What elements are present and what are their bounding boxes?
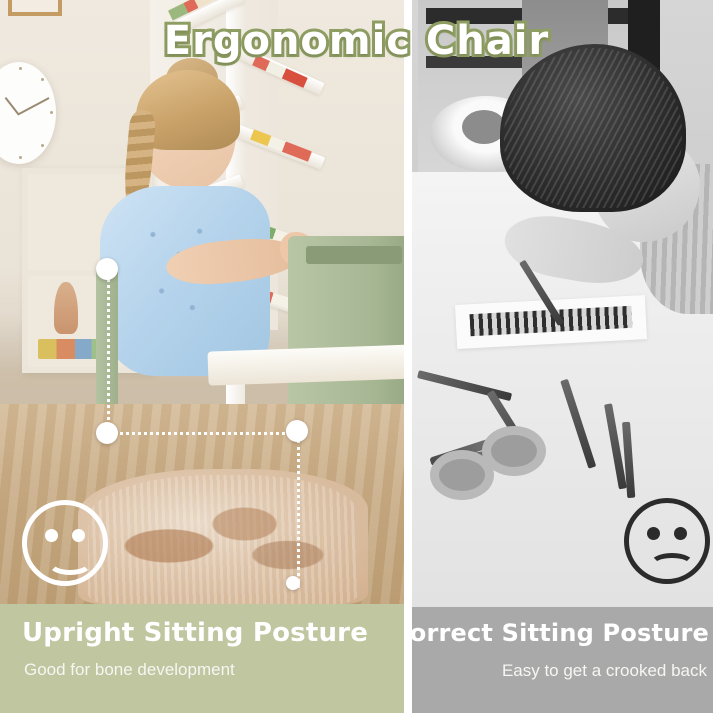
left-caption-band: Upright Sitting Posture Good for bone de… (0, 604, 404, 713)
picture-frame (8, 0, 62, 16)
wall-clock-icon (0, 62, 56, 164)
right-heading: Incorrect Sitting Posture (412, 619, 709, 647)
panel-upright-posture: Upright Sitting Posture Good for bone de… (0, 0, 404, 713)
page-title: Ergonomic Chair (0, 18, 713, 64)
area-rug (78, 469, 368, 604)
right-subtitle: Easy to get a crooked back (502, 661, 707, 681)
left-photo (0, 0, 404, 604)
happy-face-icon (22, 500, 108, 586)
sad-face-icon (624, 498, 710, 584)
right-photo (412, 0, 713, 607)
scissors (430, 418, 560, 504)
product-comparison-poster: Upright Sitting Posture Good for bone de… (0, 0, 713, 713)
panel-incorrect-posture: Incorrect Sitting Posture Easy to get a … (412, 0, 713, 713)
left-subtitle: Good for bone development (24, 660, 235, 680)
panel-divider (404, 0, 412, 713)
left-heading: Upright Sitting Posture (22, 618, 368, 648)
right-caption-band: Incorrect Sitting Posture Easy to get a … (412, 607, 713, 713)
